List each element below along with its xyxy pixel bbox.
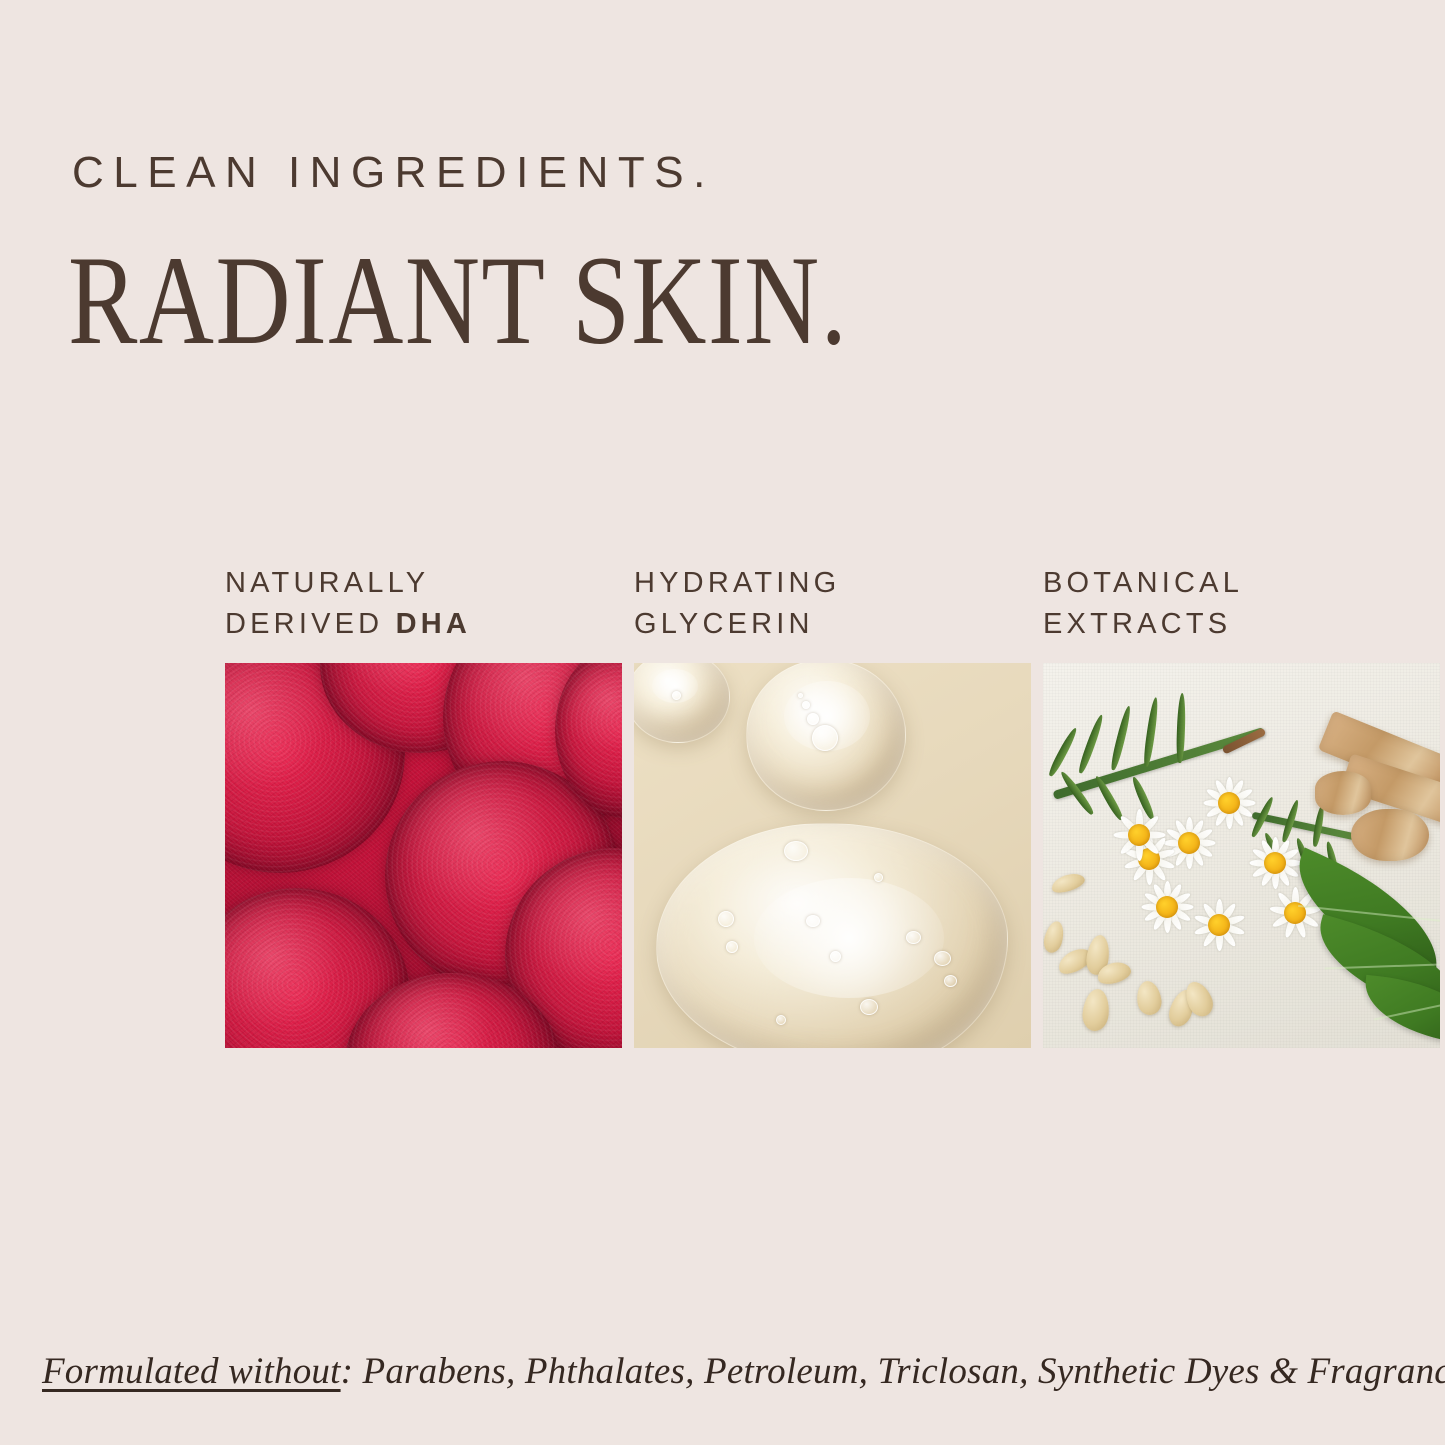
marketing-panel: CLEAN INGREDIENTS. RADIANT SKIN. NATURAL… <box>0 0 1445 1445</box>
ingredient-label-botanical-line2: EXTRACTS <box>1043 608 1231 640</box>
ingredient-column-botanical: BOTANICALEXTRACTS <box>1043 563 1440 1048</box>
eyebrow-text: CLEAN INGREDIENTS. <box>72 150 1372 196</box>
footer-underlined-label: Formulated without <box>42 1351 341 1392</box>
glycerin-gel-image <box>634 663 1031 1048</box>
ingredient-label-glycerin: HYDRATINGGLYCERIN <box>634 563 1031 663</box>
page-title: RADIANT SKIN. <box>68 238 1372 365</box>
ingredient-column-glycerin: HYDRATINGGLYCERIN <box>634 563 1031 1048</box>
ingredient-label-botanical: BOTANICALEXTRACTS <box>1043 563 1440 663</box>
ingredient-label-dha-emphasis: DHA <box>396 608 471 640</box>
beet-slices-image <box>225 663 622 1048</box>
ingredients-row: NATURALLYDERIVED DHA HYDRATINGGLYCERIN <box>225 563 1421 1048</box>
botanical-extracts-image <box>1043 663 1440 1048</box>
headline-block: CLEAN INGREDIENTS. RADIANT SKIN. <box>72 150 1372 342</box>
ingredient-label-dha-line2: DERIVED <box>225 608 396 640</box>
ingredient-label-dha-line1: NATURALLY <box>225 567 429 599</box>
ingredient-column-dha: NATURALLYDERIVED DHA <box>225 563 622 1048</box>
ingredient-label-dha: NATURALLYDERIVED DHA <box>225 563 622 663</box>
footer-disclaimer: Formulated without: Parabens, Phthalates… <box>42 1350 1412 1394</box>
ingredient-label-botanical-line1: BOTANICAL <box>1043 567 1243 599</box>
ingredient-label-glycerin-line1: HYDRATING <box>634 567 840 599</box>
ingredient-label-glycerin-line2: GLYCERIN <box>634 608 814 640</box>
footer-excluded-list: : Parabens, Phthalates, Petroleum, Tricl… <box>341 1351 1445 1392</box>
